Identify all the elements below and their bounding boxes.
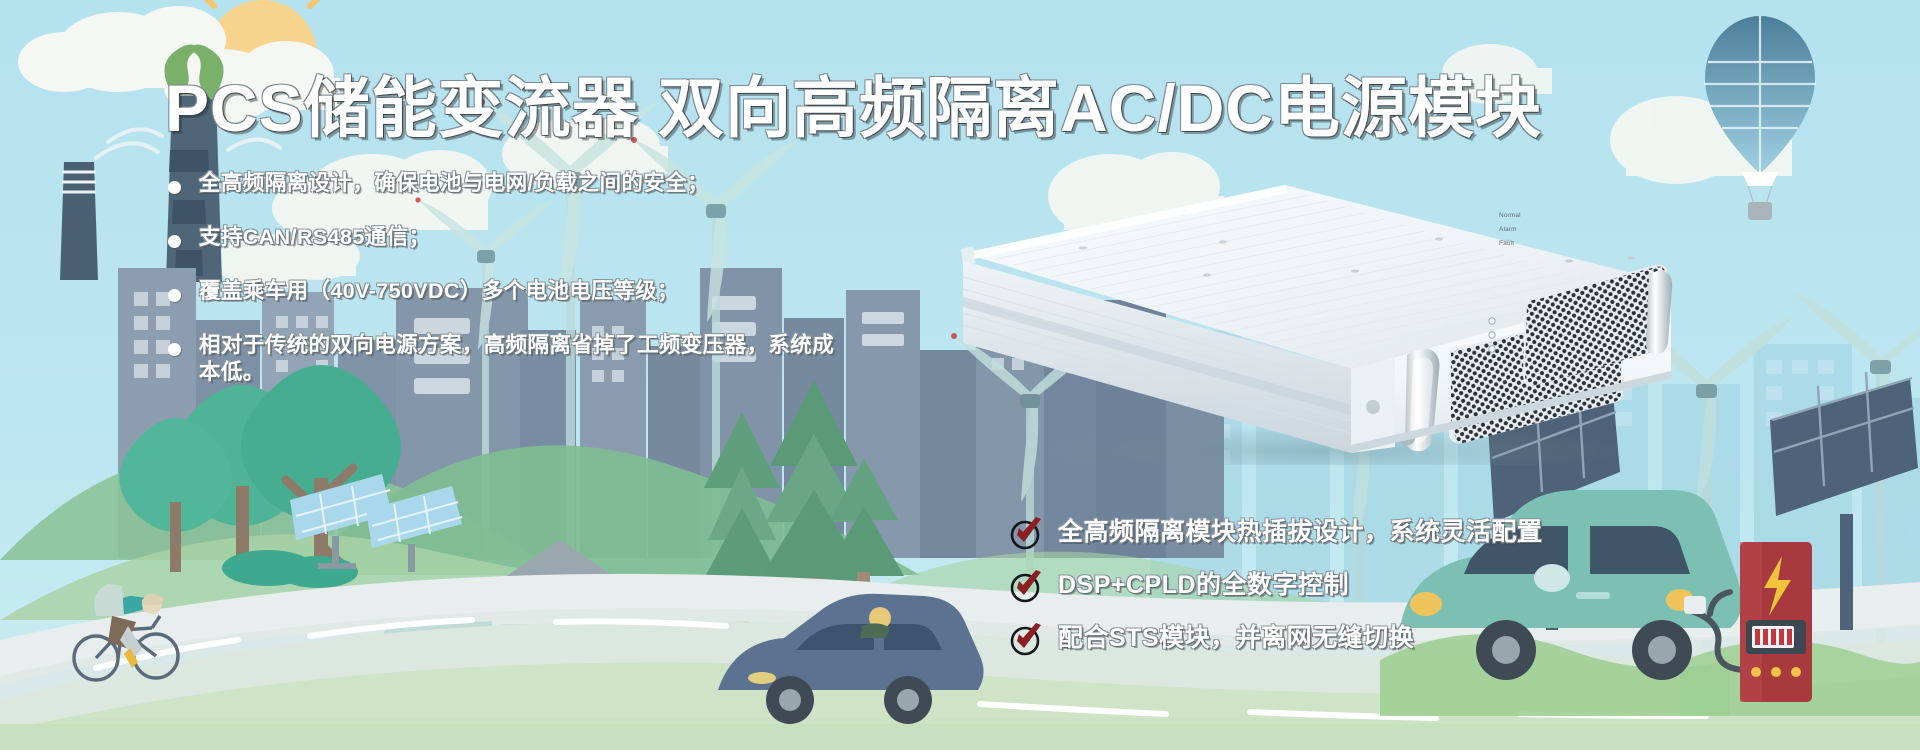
feature-text: 覆盖乘车用（40V-750VDC）多个电池电压等级； bbox=[199, 278, 679, 305]
list-item: 全高频隔离设计，确保电池与电网/负载之间的安全； bbox=[168, 170, 888, 197]
list-item: 全高频隔离模块热插拔设计，系统灵活配置 bbox=[1010, 516, 1890, 550]
list-item: 相对于传统的双向电源方案，高频隔离省掉了工频变压器，系统成本低。 bbox=[168, 332, 888, 386]
feature-text: 全高频隔离设计，确保电池与电网/负载之间的安全； bbox=[199, 170, 709, 197]
bullet-dot-icon bbox=[168, 181, 181, 194]
feature-list: 全高频隔离设计，确保电池与电网/负载之间的安全； 支持CAN/RS485通信； … bbox=[168, 170, 888, 386]
check-circle-icon bbox=[1010, 569, 1044, 603]
led-label-alarm: Alarm bbox=[1499, 226, 1517, 233]
highlight-text: DSP+CPLD的全数字控制 bbox=[1058, 572, 1349, 600]
led-indicator-group bbox=[1489, 318, 1495, 352]
highlight-list: 全高频隔离模块热插拔设计，系统灵活配置 DSP+CPLD的全数字控制 配合STS… bbox=[1010, 516, 1890, 656]
highlight-text: 全高频隔离模块热插拔设计，系统灵活配置 bbox=[1058, 519, 1543, 547]
list-item: 覆盖乘车用（40V-750VDC）多个电池电压等级； bbox=[168, 278, 888, 305]
page-title: PCS储能变流器 双向高频隔离AC/DC电源模块 bbox=[165, 75, 1542, 141]
pcs-device-image: Normal Alarm Fault bbox=[955, 165, 1675, 465]
title-block: PCS储能变流器 双向高频隔离AC/DC电源模块 bbox=[165, 62, 1345, 154]
list-item: DSP+CPLD的全数字控制 bbox=[1010, 569, 1890, 603]
check-circle-icon bbox=[1010, 622, 1044, 656]
bullet-dot-icon bbox=[168, 289, 181, 302]
led-label-normal: Normal bbox=[1499, 212, 1521, 219]
highlight-text: 配合STS模块，并离网无缝切换 bbox=[1058, 625, 1414, 653]
led-label-fault: Fault bbox=[1499, 240, 1514, 247]
bullet-dot-icon bbox=[168, 343, 181, 356]
check-circle-icon bbox=[1010, 516, 1044, 550]
list-item: 支持CAN/RS485通信； bbox=[168, 224, 888, 251]
promo-banner: Normal Alarm Fault PCS储能变流器 双向高频隔离AC/DC电… bbox=[0, 0, 1920, 750]
feature-text: 相对于传统的双向电源方案，高频隔离省掉了工频变压器，系统成本低。 bbox=[199, 332, 849, 386]
bullet-dot-icon bbox=[168, 235, 181, 248]
list-item: 配合STS模块，并离网无缝切换 bbox=[1010, 622, 1890, 656]
feature-text: 支持CAN/RS485通信； bbox=[199, 224, 430, 251]
